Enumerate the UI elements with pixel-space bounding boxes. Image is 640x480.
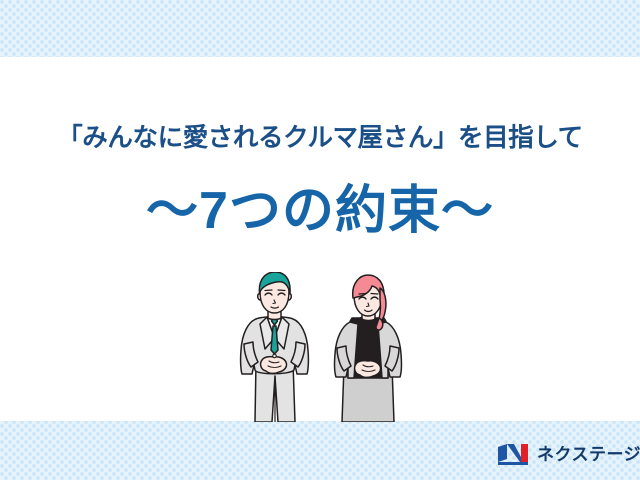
nextage-logo: ネクステージ: [497, 438, 640, 470]
two-bowing-staff-illustration: [238, 272, 414, 422]
male-staff-figure: [241, 272, 309, 422]
headline-primary: 「みんなに愛されるクルマ屋さん」を目指して: [0, 126, 640, 152]
banner-image: 「みんなに愛されるクルマ屋さん」を目指して 〜7つの約束〜: [0, 0, 640, 480]
female-staff-figure: [335, 275, 402, 422]
male-tie: [271, 326, 278, 354]
nextage-logo-text: ネクステージ: [537, 446, 640, 463]
headline-secondary: 〜7つの約束〜: [0, 182, 640, 242]
female-hands: [355, 361, 381, 378]
nextage-n-mark: [497, 441, 531, 467]
male-hands: [261, 357, 287, 374]
